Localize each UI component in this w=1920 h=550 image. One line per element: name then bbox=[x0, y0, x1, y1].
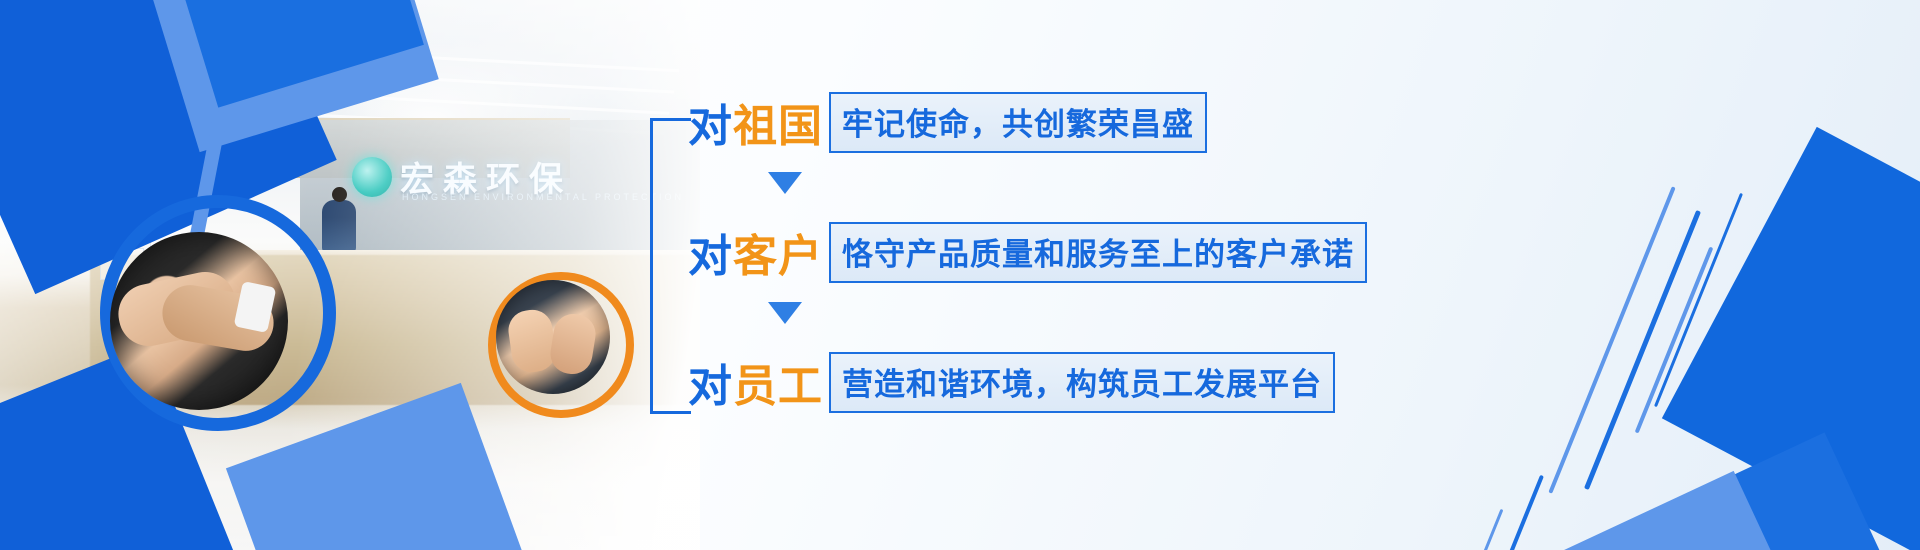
decorative-line bbox=[1456, 509, 1504, 550]
values-list: 对祖国 牢记使命，共创繁荣昌盛 对客户 恪守产品质量和服务至上的客户承诺 对员工… bbox=[650, 72, 1410, 462]
value-statement: 营造和谐环境，构筑员工发展平台 bbox=[829, 352, 1335, 413]
down-arrow-icon bbox=[768, 172, 802, 194]
value-prefix: 对祖国 bbox=[688, 90, 823, 154]
value-prefix: 对员工 bbox=[688, 350, 823, 414]
company-values-banner: 宏森环保 HONGSEN ENVIRONMENTAL PROTECTION bbox=[0, 0, 1920, 550]
value-row: 对客户 恪守产品质量和服务至上的客户承诺 bbox=[688, 220, 1367, 284]
thumb-right bbox=[548, 311, 599, 377]
value-prefix-blue: 对 bbox=[688, 361, 733, 412]
value-prefix-blue: 对 bbox=[688, 101, 733, 152]
decorative-line bbox=[1584, 210, 1701, 490]
thumbs-up-photo bbox=[496, 280, 610, 394]
value-prefix-orange: 员工 bbox=[733, 361, 823, 412]
down-arrow-icon bbox=[768, 302, 802, 324]
handshake-photo bbox=[110, 232, 288, 410]
value-prefix-blue: 对 bbox=[688, 231, 733, 282]
value-row: 对祖国 牢记使命，共创繁荣昌盛 bbox=[688, 90, 1207, 154]
values-bracket bbox=[650, 118, 691, 414]
value-prefix-orange: 祖国 bbox=[733, 101, 823, 152]
value-statement: 恪守产品质量和服务至上的客户承诺 bbox=[829, 222, 1367, 283]
value-prefix: 对客户 bbox=[688, 220, 823, 284]
value-prefix-orange: 客户 bbox=[733, 231, 823, 282]
decorative-line bbox=[1548, 186, 1675, 493]
thumb-left bbox=[506, 307, 558, 375]
value-row: 对员工 营造和谐环境，构筑员工发展平台 bbox=[688, 350, 1335, 414]
value-statement: 牢记使命，共创繁荣昌盛 bbox=[829, 92, 1207, 153]
decorative-line bbox=[1484, 475, 1544, 550]
